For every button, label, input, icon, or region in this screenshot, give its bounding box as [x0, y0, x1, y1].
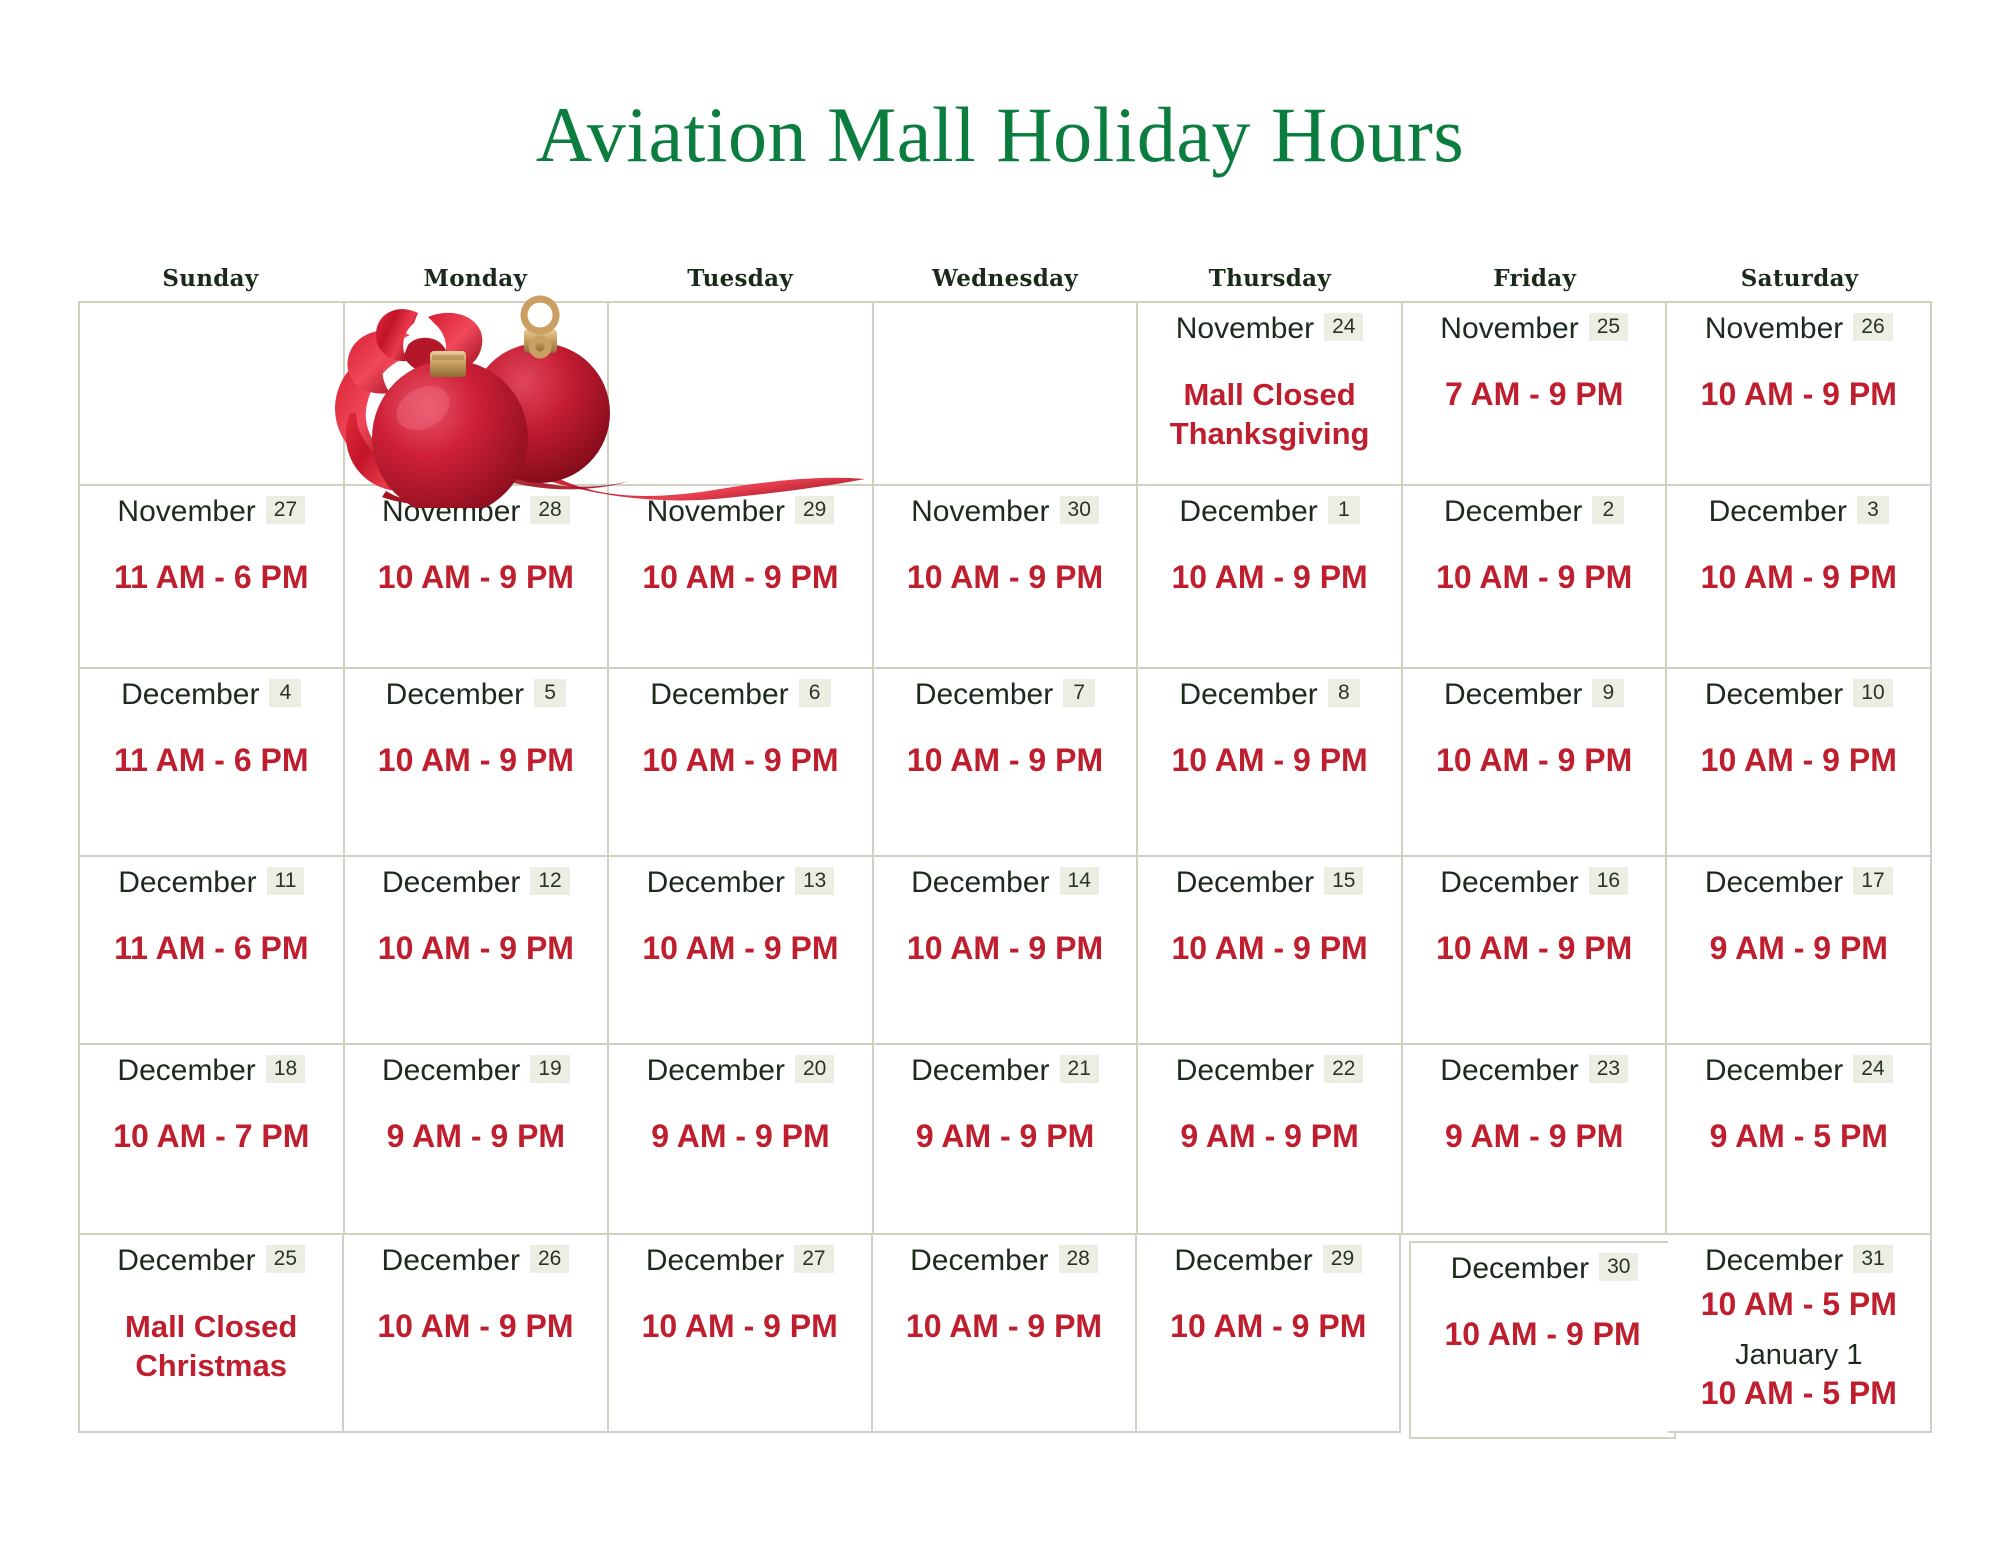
day-header-thursday: Thursday: [1137, 265, 1402, 292]
hours-text: 10 AM - 9 PM: [623, 558, 858, 597]
calendar-week-row: December1111 AM - 6 PMDecember1210 AM - …: [80, 857, 1932, 1045]
day-number-badge: 15: [1324, 867, 1363, 895]
hours-line: Thanksgiving: [1152, 414, 1387, 454]
hours-line: 10 AM - 9 PM: [359, 741, 594, 780]
month-label: December: [1444, 496, 1582, 528]
day-number-badge: 27: [266, 496, 305, 524]
month-label: November: [647, 496, 785, 528]
day-cell-header: December2: [1417, 496, 1652, 528]
day-number-badge: 31: [1853, 1245, 1892, 1273]
hours-text: 10 AM - 9 PM: [1152, 741, 1387, 780]
calendar-grid: November24Mall ClosedThanksgivingNovembe…: [78, 301, 1932, 1433]
day-header-row: SundayMondayTuesdayWednesdayThursdayFrid…: [78, 265, 1932, 292]
day-number-badge: 29: [1323, 1245, 1362, 1273]
day-cell-december-5: December510 AM - 9 PM: [345, 669, 610, 857]
month-label: December: [1440, 1055, 1578, 1087]
day-cell-december-17: December179 AM - 9 PM: [1667, 857, 1932, 1045]
month-label: December: [382, 1245, 520, 1277]
month-label: December: [1444, 679, 1582, 711]
day-cell-header: December27: [623, 1245, 857, 1277]
day-cell-december-23: December239 AM - 9 PM: [1403, 1045, 1668, 1235]
day-number-badge: 24: [1853, 1055, 1892, 1083]
hours-text: 10 AM - 9 PM: [1681, 375, 1916, 414]
day-header-friday: Friday: [1402, 265, 1667, 292]
hours-line: 10 AM - 5 PM: [1682, 1285, 1916, 1324]
day-cell-november-28: November2810 AM - 9 PM: [345, 486, 610, 669]
day-cell-december-16: December1610 AM - 9 PM: [1403, 857, 1668, 1045]
day-cell-december-4: December411 AM - 6 PM: [80, 669, 345, 857]
hours-text: 10 AM - 9 PM: [623, 929, 858, 968]
hours-line: 10 AM - 9 PM: [1151, 1307, 1385, 1346]
day-cell-december-15: December1510 AM - 9 PM: [1138, 857, 1403, 1045]
day-cell-december-21: December219 AM - 9 PM: [874, 1045, 1139, 1235]
hours-line: 10 AM - 9 PM: [888, 929, 1123, 968]
day-cell-header: December5: [359, 679, 594, 711]
day-number-badge: 20: [795, 1055, 834, 1083]
day-number-badge: 5: [534, 679, 566, 707]
day-number-badge: 25: [1589, 313, 1628, 341]
day-cell-header: December9: [1417, 679, 1652, 711]
day-number-badge: 13: [795, 867, 834, 895]
day-number-badge: 12: [530, 867, 569, 895]
month-label: December: [1179, 679, 1317, 711]
calendar-week-row: November2711 AM - 6 PMNovember2810 AM - …: [80, 486, 1932, 669]
hours-text: 10 AM - 9 PM: [887, 1307, 1121, 1346]
month-label: December: [1709, 496, 1847, 528]
day-number-badge: 19: [530, 1055, 569, 1083]
hours-line: 10 AM - 9 PM: [623, 929, 858, 968]
hours-text: 10 AM - 9 PM: [358, 1307, 592, 1346]
day-number-badge: 30: [1060, 496, 1099, 524]
day-cell-header: December6: [623, 679, 858, 711]
day-cell-header: December29: [1151, 1245, 1385, 1277]
day-number-badge: 16: [1589, 867, 1628, 895]
hours-line: 9 AM - 9 PM: [1152, 1117, 1387, 1156]
day-number-badge: 18: [266, 1055, 305, 1083]
hours-text: 10 AM - 9 PM: [1151, 1307, 1385, 1346]
day-number-badge: 3: [1857, 496, 1889, 524]
day-number-badge: 22: [1324, 1055, 1363, 1083]
day-number-badge: 29: [795, 496, 834, 524]
hours-line: 10 AM - 9 PM: [888, 558, 1123, 597]
hours-text: 10 AM - 9 PM: [1417, 558, 1652, 597]
hours-text: 9 AM - 9 PM: [623, 1117, 858, 1156]
day-number-badge: 4: [269, 679, 301, 707]
day-cell-empty: [80, 303, 345, 486]
day-cell-november-25: November257 AM - 9 PM: [1403, 303, 1668, 486]
day-cell-december-19: December199 AM - 9 PM: [345, 1045, 610, 1235]
day-cell-header: December3: [1681, 496, 1916, 528]
closed-notice: Mall ClosedChristmas: [94, 1307, 328, 1386]
hours-line: 10 AM - 9 PM: [1425, 1315, 1659, 1354]
day-number-badge: 27: [794, 1245, 833, 1273]
day-cell-header: December22: [1152, 1055, 1387, 1087]
hours-line: 10 AM - 9 PM: [1417, 929, 1652, 968]
day-number-badge: 10: [1853, 679, 1892, 707]
day-number-badge: 8: [1328, 679, 1360, 707]
hours-line: 10 AM - 9 PM: [1152, 558, 1387, 597]
hours-line: 10 AM - 9 PM: [1681, 375, 1916, 414]
day-cell-december-14: December1410 AM - 9 PM: [874, 857, 1139, 1045]
hours-line: 11 AM - 6 PM: [94, 558, 329, 597]
day-number-badge: 26: [530, 1245, 569, 1273]
hours-line: 10 AM - 9 PM: [1152, 929, 1387, 968]
day-number-badge: 2: [1592, 496, 1624, 524]
calendar-page: Aviation Mall Holiday Hours SundayMonday…: [0, 0, 2000, 1545]
day-cell-december-13: December1310 AM - 9 PM: [609, 857, 874, 1045]
month-label: December: [646, 1245, 784, 1277]
day-cell-december-3: December310 AM - 9 PM: [1667, 486, 1932, 669]
day-cell-header: December11: [94, 867, 329, 899]
hours-line: 10 AM - 9 PM: [888, 741, 1123, 780]
calendar-week-row: December411 AM - 6 PMDecember510 AM - 9 …: [80, 669, 1932, 857]
day-number-badge: 23: [1589, 1055, 1628, 1083]
month-label: December: [647, 1055, 785, 1087]
day-number-badge: 14: [1060, 867, 1099, 895]
day-number-badge: 30: [1599, 1253, 1638, 1281]
day-header-saturday: Saturday: [1667, 265, 1932, 292]
month-label: December: [1705, 679, 1843, 711]
closed-notice: Mall ClosedThanksgiving: [1152, 375, 1387, 454]
day-cell-december-24: December249 AM - 5 PM: [1667, 1045, 1932, 1235]
hours-text: 10 AM - 9 PM: [623, 741, 858, 780]
month-label: December: [650, 679, 788, 711]
hours-line: 9 AM - 9 PM: [888, 1117, 1123, 1156]
day-cell-november-27: November2711 AM - 6 PM: [80, 486, 345, 669]
month-label: December: [915, 679, 1053, 711]
hours-text: 11 AM - 6 PM: [94, 741, 329, 780]
hours-text: 10 AM - 9 PM: [1681, 741, 1916, 780]
day-cell-december-25: December25Mall ClosedChristmas: [80, 1235, 344, 1433]
day-cell-december-6: December610 AM - 9 PM: [609, 669, 874, 857]
month-label: November: [1176, 313, 1314, 345]
day-cell-empty: [609, 303, 874, 486]
month-label: November: [911, 496, 1049, 528]
calendar-week-row: November24Mall ClosedThanksgivingNovembe…: [80, 303, 1932, 486]
hours-text: 9 AM - 9 PM: [1417, 1117, 1652, 1156]
hours-line: 10 AM - 9 PM: [623, 558, 858, 597]
hours-line: 7 AM - 9 PM: [1417, 375, 1652, 414]
hours-line: 9 AM - 9 PM: [1417, 1117, 1652, 1156]
day-cell-header: November30: [888, 496, 1123, 528]
day-cell-december-1: December110 AM - 9 PM: [1138, 486, 1403, 669]
day-cell-header: December17: [1681, 867, 1916, 899]
hours-text: 9 AM - 9 PM: [1152, 1117, 1387, 1156]
month-label: December: [117, 1245, 255, 1277]
hours-text: 10 AM - 9 PM: [1152, 558, 1387, 597]
day-cell-december-10: December1010 AM - 9 PM: [1667, 669, 1932, 857]
day-cell-header: November27: [94, 496, 329, 528]
month-label: December: [382, 867, 520, 899]
hours-text: 9 AM - 5 PM: [1681, 1117, 1916, 1156]
day-cell-header: December20: [623, 1055, 858, 1087]
page-title: Aviation Mall Holiday Hours: [0, 96, 2000, 174]
hours-text: 9 AM - 9 PM: [1681, 929, 1916, 968]
day-cell-december-11: December1111 AM - 6 PM: [80, 857, 345, 1045]
day-cell-empty: [874, 303, 1139, 486]
hours-line: 10 AM - 9 PM: [623, 1307, 857, 1346]
hours-line: Mall Closed: [94, 1307, 328, 1347]
day-cell-header: December8: [1152, 679, 1387, 711]
hours-text: 10 AM - 9 PM: [1425, 1315, 1659, 1354]
day-cell-december-29: December2910 AM - 9 PM: [1137, 1235, 1401, 1433]
day-cell-header: December10: [1681, 679, 1916, 711]
month-label: December: [1705, 1055, 1843, 1087]
month-label: December: [1705, 1245, 1843, 1277]
day-cell-december-20: December209 AM - 9 PM: [609, 1045, 874, 1235]
hours-text: 10 AM - 9 PM: [359, 558, 594, 597]
month-label: December: [1174, 1245, 1312, 1277]
hours-text: 10 AM - 9 PM: [1417, 929, 1652, 968]
month-label: December: [1440, 867, 1578, 899]
day-cell-december-22: December229 AM - 9 PM: [1138, 1045, 1403, 1235]
day-cell-november-26: November2610 AM - 9 PM: [1667, 303, 1932, 486]
hours-line: 10 AM - 9 PM: [887, 1307, 1121, 1346]
day-header-tuesday: Tuesday: [608, 265, 873, 292]
hours-text: 11 AM - 6 PM: [94, 558, 329, 597]
day-cell-header: November26: [1681, 313, 1916, 345]
hours-line: 9 AM - 9 PM: [1681, 929, 1916, 968]
extra-date-label: January 1: [1682, 1340, 1916, 1372]
day-number-badge: 1: [1328, 496, 1360, 524]
day-cell-header: December12: [359, 867, 594, 899]
month-label: December: [382, 1055, 520, 1087]
month-label: December: [911, 867, 1049, 899]
hours-text: 9 AM - 9 PM: [359, 1117, 594, 1156]
hours-line: 9 AM - 5 PM: [1681, 1117, 1916, 1156]
hours-text: 11 AM - 6 PM: [94, 929, 329, 968]
day-number-badge: 9: [1592, 679, 1624, 707]
hours-text: 10 AM - 9 PM: [1681, 558, 1916, 597]
day-cell-december-30: December3010 AM - 9 PM: [1409, 1241, 1675, 1439]
day-cell-december-31: December3110 AM - 5 PMJanuary 110 AM - 5…: [1668, 1235, 1932, 1433]
day-header-wednesday: Wednesday: [873, 265, 1138, 292]
day-number-badge: 17: [1853, 867, 1892, 895]
month-label: December: [117, 1055, 255, 1087]
day-number-badge: 21: [1060, 1055, 1099, 1083]
month-label: December: [118, 867, 256, 899]
hours-text: 10 AM - 7 PM: [94, 1117, 329, 1156]
day-cell-header: December7: [888, 679, 1123, 711]
month-label: December: [910, 1245, 1048, 1277]
day-cell-december-18: December1810 AM - 7 PM: [80, 1045, 345, 1235]
hours-text: 7 AM - 9 PM: [1417, 375, 1652, 414]
hours-line: 10 AM - 9 PM: [1681, 741, 1916, 780]
extra-hours-text: 10 AM - 5 PM: [1682, 1375, 1916, 1412]
month-label: December: [386, 679, 524, 711]
hours-line: 10 AM - 9 PM: [623, 741, 858, 780]
day-cell-header: November24: [1152, 313, 1387, 345]
calendar-week-row: December25Mall ClosedChristmasDecember26…: [80, 1235, 1932, 1433]
month-label: November: [117, 496, 255, 528]
day-cell-december-27: December2710 AM - 9 PM: [609, 1235, 873, 1433]
day-cell-header: December19: [359, 1055, 594, 1087]
day-cell-header: December13: [623, 867, 858, 899]
day-cell-december-8: December810 AM - 9 PM: [1138, 669, 1403, 857]
day-number-badge: 6: [799, 679, 831, 707]
day-cell-header: December1: [1152, 496, 1387, 528]
day-cell-header: December15: [1152, 867, 1387, 899]
hours-text: 10 AM - 5 PM: [1682, 1285, 1916, 1324]
hours-line: 10 AM - 9 PM: [1152, 741, 1387, 780]
day-cell-header: December24: [1681, 1055, 1916, 1087]
day-cell-december-7: December710 AM - 9 PM: [874, 669, 1139, 857]
month-label: December: [911, 1055, 1049, 1087]
day-cell-header: December31: [1682, 1245, 1916, 1277]
month-label: December: [121, 679, 259, 711]
hours-line: 10 AM - 7 PM: [94, 1117, 329, 1156]
hours-text: 9 AM - 9 PM: [888, 1117, 1123, 1156]
month-label: December: [1176, 1055, 1314, 1087]
day-header-monday: Monday: [343, 265, 608, 292]
day-cell-header: December14: [888, 867, 1123, 899]
day-number-badge: 26: [1853, 313, 1892, 341]
day-cell-december-2: December210 AM - 9 PM: [1403, 486, 1668, 669]
hours-text: 10 AM - 9 PM: [888, 741, 1123, 780]
hours-line: 10 AM - 9 PM: [1681, 558, 1916, 597]
hours-text: 10 AM - 9 PM: [888, 929, 1123, 968]
month-label: December: [647, 867, 785, 899]
day-cell-header: December23: [1417, 1055, 1652, 1087]
day-cell-december-12: December1210 AM - 9 PM: [345, 857, 610, 1045]
hours-line: 10 AM - 9 PM: [1417, 558, 1652, 597]
hours-line: 10 AM - 9 PM: [358, 1307, 592, 1346]
month-label: December: [1451, 1253, 1589, 1285]
day-number-badge: 24: [1324, 313, 1363, 341]
hours-line: Mall Closed: [1152, 375, 1387, 415]
day-cell-header: December18: [94, 1055, 329, 1087]
hours-line: 10 AM - 9 PM: [359, 558, 594, 597]
day-cell-november-30: November3010 AM - 9 PM: [874, 486, 1139, 669]
day-cell-header: December25: [94, 1245, 328, 1277]
day-number-badge: 7: [1063, 679, 1095, 707]
day-cell-empty: [345, 303, 610, 486]
day-number-badge: 28: [530, 496, 569, 524]
day-header-sunday: Sunday: [78, 265, 343, 292]
hours-line: 11 AM - 6 PM: [94, 741, 329, 780]
day-cell-november-24: November24Mall ClosedThanksgiving: [1138, 303, 1403, 486]
month-label: December: [1705, 867, 1843, 899]
day-cell-header: December28: [887, 1245, 1121, 1277]
day-cell-header: November28: [359, 496, 594, 528]
day-number-badge: 25: [266, 1245, 305, 1273]
month-label: December: [1179, 496, 1317, 528]
hours-text: 10 AM - 9 PM: [888, 558, 1123, 597]
day-cell-header: December16: [1417, 867, 1652, 899]
day-number-badge: 11: [267, 867, 305, 895]
day-cell-december-26: December2610 AM - 9 PM: [344, 1235, 608, 1433]
day-cell-header: November25: [1417, 313, 1652, 345]
hours-line: 9 AM - 9 PM: [359, 1117, 594, 1156]
hours-line: 10 AM - 9 PM: [359, 929, 594, 968]
day-cell-december-28: December2810 AM - 9 PM: [873, 1235, 1137, 1433]
hours-text: 10 AM - 9 PM: [623, 1307, 857, 1346]
day-cell-november-29: November2910 AM - 9 PM: [609, 486, 874, 669]
month-label: December: [1176, 867, 1314, 899]
hours-text: 10 AM - 9 PM: [1152, 929, 1387, 968]
day-cell-header: December30: [1425, 1253, 1659, 1285]
day-cell-header: December21: [888, 1055, 1123, 1087]
day-cell-header: November29: [623, 496, 858, 528]
hours-text: 10 AM - 9 PM: [1417, 741, 1652, 780]
day-cell-header: December4: [94, 679, 329, 711]
month-label: November: [1705, 313, 1843, 345]
day-cell-december-9: December910 AM - 9 PM: [1403, 669, 1668, 857]
month-label: November: [1440, 313, 1578, 345]
hours-text: 10 AM - 9 PM: [359, 741, 594, 780]
hours-line: 9 AM - 9 PM: [623, 1117, 858, 1156]
hours-text: 10 AM - 9 PM: [359, 929, 594, 968]
hours-line: 10 AM - 9 PM: [1417, 741, 1652, 780]
hours-line: Christmas: [94, 1346, 328, 1386]
day-cell-header: December26: [358, 1245, 592, 1277]
month-label: November: [382, 496, 520, 528]
hours-line: 11 AM - 6 PM: [94, 929, 329, 968]
day-number-badge: 28: [1059, 1245, 1098, 1273]
calendar-week-row: December1810 AM - 7 PMDecember199 AM - 9…: [80, 1045, 1932, 1235]
